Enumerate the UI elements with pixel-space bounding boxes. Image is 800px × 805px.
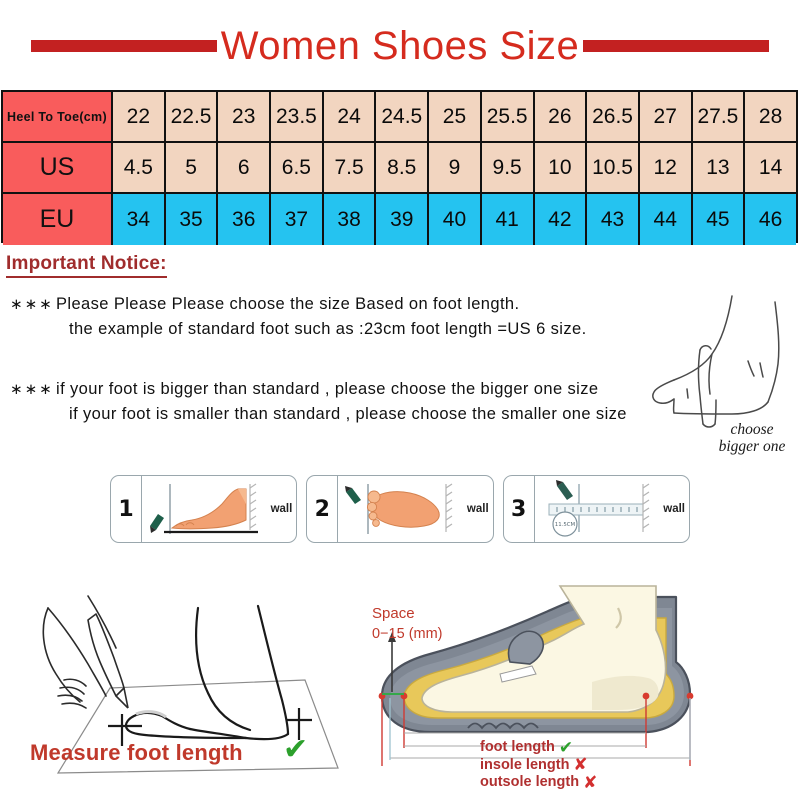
space-label: Space 0−15 (mm)	[372, 604, 443, 644]
table-cell: 25	[429, 92, 482, 141]
table-cell: 37	[271, 194, 324, 245]
notice-block-2: ∗∗∗ if your foot is bigger than standard…	[10, 377, 670, 427]
table-cell: 38	[324, 194, 377, 245]
table-cell: 36	[218, 194, 271, 245]
table-row: Heel To Toe(cm) 22 22.5 23 23.5 24 24.5 …	[3, 92, 796, 143]
foot-length-label: foot length	[480, 739, 555, 757]
table-cell: 5	[166, 143, 219, 192]
table-cell: 46	[745, 194, 796, 245]
ruler-icon: 11.5CM wall	[535, 476, 689, 542]
insole-length-label-row: insole length ✘	[480, 757, 730, 775]
title-bar-left	[31, 40, 217, 52]
title-bar-right	[583, 40, 769, 52]
notice-line: ∗∗∗ Please Please Please choose the size…	[10, 292, 670, 317]
table-cell: 22.5	[166, 92, 219, 141]
measure-steps: 1	[110, 475, 690, 543]
table-cell: 43	[587, 194, 640, 245]
wall-label: wall	[271, 503, 293, 515]
page-title: Women Shoes Size	[221, 24, 580, 68]
page-title-row: Women Shoes Size	[0, 18, 800, 73]
table-cell: 40	[429, 194, 482, 245]
foot-top-view-icon: wall	[338, 476, 492, 542]
step-number: 2	[307, 476, 338, 542]
check-mark-icon: ✔	[559, 741, 573, 755]
foot-side-view-icon: wall	[142, 476, 296, 542]
notice-line: if your foot is smaller than standard , …	[10, 402, 670, 427]
table-row: EU 34 35 36 37 38 39 40 41 42 43 44 45 4…	[3, 194, 796, 245]
notice-text: if your foot is bigger than standard , p…	[56, 377, 598, 402]
important-notice-heading: Important Notice:	[6, 253, 167, 278]
caption-line-1: choose	[697, 421, 800, 438]
table-cell: 6.5	[271, 143, 324, 192]
table-cell: 8.5	[376, 143, 429, 192]
table-cell: 6	[218, 143, 271, 192]
measure-foot-length-caption: Measure foot length	[30, 740, 243, 766]
table-cell: 45	[693, 194, 746, 245]
step-3: 3	[503, 475, 690, 543]
table-cell: 9.5	[482, 143, 535, 192]
table-cell: 26	[535, 92, 588, 141]
table-cell: 41	[482, 194, 535, 245]
table-cell: 10.5	[587, 143, 640, 192]
table-cell: 7.5	[324, 143, 377, 192]
table-cell: 42	[535, 194, 588, 245]
row-label-us: US	[3, 143, 113, 192]
notice-text: Please Please Please choose the size Bas…	[56, 292, 520, 317]
cross-mark-icon: ✘	[583, 776, 597, 790]
cross-mark-icon: ✘	[573, 758, 587, 772]
table-cell: 27.5	[693, 92, 746, 141]
wall-label: wall	[467, 503, 489, 515]
table-cell: 26.5	[587, 92, 640, 141]
space-label-line-2: 0−15 (mm)	[372, 624, 443, 644]
check-mark-icon: ✔	[283, 735, 308, 765]
table-cell: 12	[640, 143, 693, 192]
table-cell: 24.5	[376, 92, 429, 141]
asterisk-bullet-icon: ∗∗∗	[10, 292, 56, 317]
row-label-eu: EU	[3, 194, 113, 245]
notice-text: if your foot is smaller than standard , …	[56, 402, 627, 427]
table-cell: 4.5	[113, 143, 166, 192]
notice-text: the example of standard foot such as :23…	[56, 317, 587, 342]
asterisk-bullet-icon: ∗∗∗	[10, 377, 56, 402]
shoe-length-labels: foot length ✔ insole length ✘ outsole le…	[480, 739, 730, 792]
size-chart-page: Women Shoes Size Heel To Toe(cm) 22 22.5…	[0, 0, 800, 800]
table-cell: 44	[640, 194, 693, 245]
table-cell: 34	[113, 194, 166, 245]
magnifier-text: 11.5CM	[554, 522, 575, 528]
table-cell: 23	[218, 92, 271, 141]
caption-line-2: bigger one	[697, 438, 800, 455]
table-cell: 10	[535, 143, 588, 192]
step-2: 2	[306, 475, 493, 543]
outsole-length-label-row: outsole length ✘	[480, 774, 730, 792]
foot-length-label-row: foot length ✔	[480, 739, 730, 757]
table-cell: 23.5	[271, 92, 324, 141]
table-cell: 13	[693, 143, 746, 192]
outsole-length-label: outsole length	[480, 774, 579, 792]
notice-block-1: ∗∗∗ Please Please Please choose the size…	[10, 292, 670, 342]
table-cell: 39	[376, 194, 429, 245]
table-cell: 25.5	[482, 92, 535, 141]
table-cell: 9	[429, 143, 482, 192]
notice-line: ∗∗∗ if your foot is bigger than standard…	[10, 377, 670, 402]
table-cell: 14	[745, 143, 796, 192]
table-cell: 28	[745, 92, 796, 141]
table-cell: 35	[166, 194, 219, 245]
table-cell: 24	[324, 92, 377, 141]
wall-label: wall	[663, 503, 685, 515]
table-cell: 27	[640, 92, 693, 141]
space-label-line-1: Space	[372, 604, 443, 624]
size-table: Heel To Toe(cm) 22 22.5 23 23.5 24 24.5 …	[1, 90, 798, 243]
notice-line: the example of standard foot such as :23…	[10, 317, 670, 342]
choose-bigger-one-caption: choose bigger one	[697, 421, 800, 455]
step-1: 1	[110, 475, 297, 543]
table-cell: 22	[113, 92, 166, 141]
step-number: 1	[111, 476, 142, 542]
step-number: 3	[504, 476, 535, 542]
insole-length-label: insole length	[480, 757, 569, 775]
row-label-heel-to-toe: Heel To Toe(cm)	[3, 92, 113, 141]
table-row: US 4.5 5 6 6.5 7.5 8.5 9 9.5 10 10.5 12 …	[3, 143, 796, 194]
